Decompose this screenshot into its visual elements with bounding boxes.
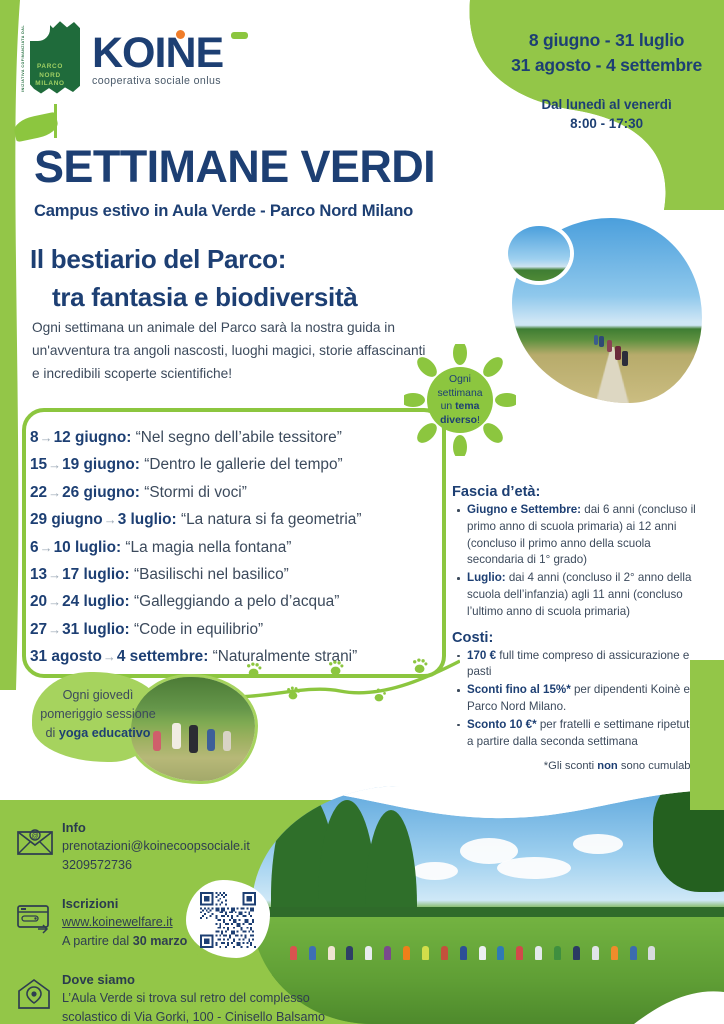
white-notch-bottom-right bbox=[594, 982, 724, 1024]
footnote-bold: non bbox=[597, 760, 618, 772]
week-range-b: 26 giugno: bbox=[62, 484, 140, 501]
age-item-label: Giugno e Settembre: bbox=[467, 503, 581, 516]
sun-line-2: settimana bbox=[420, 386, 500, 400]
page-subtitle: Campus estivo in Aula Verde - Parco Nord… bbox=[34, 201, 413, 221]
poster-root: INIZIATIVA COFINANZIATA DAL PARCO NORD M… bbox=[0, 0, 724, 1024]
arrow-icon: → bbox=[39, 540, 54, 555]
week-item: 27→31 luglio: “Code in equilibrio” bbox=[30, 616, 460, 643]
photo-figure bbox=[615, 346, 621, 360]
week-item: 6→10 luglio: “La magia nella fontana” bbox=[30, 534, 460, 561]
info-title: Info bbox=[62, 818, 434, 837]
seated-child bbox=[592, 946, 599, 960]
svg-text:@: @ bbox=[31, 833, 38, 840]
koine-green-bar-icon bbox=[231, 32, 248, 39]
week-range-a: 20 bbox=[30, 593, 47, 610]
opening-hours: 8:00 - 17:30 bbox=[511, 114, 702, 133]
week-title: “Galleggiando a pelo d’acqua” bbox=[134, 593, 339, 610]
shield-text: PARCO NORD MILANO bbox=[18, 14, 82, 100]
sun-line-1: Ogni bbox=[420, 373, 500, 387]
cost-item-label: Sconti fino al 15%* bbox=[467, 683, 571, 696]
dove-title: Dove siamo bbox=[62, 970, 434, 989]
week-title: “Nel segno dell’abile tessitore” bbox=[136, 429, 342, 446]
logo-row: INIZIATIVA COFINANZIATA DAL PARCO NORD M… bbox=[18, 14, 223, 100]
week-item: 29 giugno→3 luglio: “La natura si fa geo… bbox=[30, 506, 460, 533]
milano-label: MILANO bbox=[35, 80, 64, 89]
week-range-b: 10 luglio: bbox=[54, 539, 122, 556]
cloud bbox=[573, 834, 623, 854]
arrow-icon: → bbox=[47, 485, 62, 500]
footer-dove-block: Dove siamo L’Aula Verde si trova sul ret… bbox=[14, 970, 434, 1024]
week-item: 8→12 giugno: “Nel segno dell’abile tessi… bbox=[30, 424, 460, 451]
intro-paragraph: Ogni settimana un animale del Parco sarà… bbox=[32, 316, 432, 385]
koine-logo: KOINE cooperativa sociale onlus bbox=[92, 27, 223, 87]
week-range-a: 8 bbox=[30, 429, 39, 446]
cost-item: Sconto 10 €* per fratelli e settimane ri… bbox=[452, 717, 700, 751]
arrow-icon: → bbox=[47, 594, 62, 609]
seated-child bbox=[479, 946, 486, 960]
theme-title: Il bestiario del Parco: tra fantasia e b… bbox=[30, 240, 357, 316]
yoga-line-1: Ogni giovedì bbox=[34, 686, 162, 705]
seated-child bbox=[497, 946, 504, 960]
dove-line-2: scolastico di Via Gorki, 100 - Cinisello… bbox=[62, 1008, 434, 1024]
arrow-icon: → bbox=[103, 512, 118, 527]
yoga-figure bbox=[172, 723, 181, 749]
nord-label: NORD bbox=[39, 72, 61, 81]
week-item: 20→24 luglio: “Galleggiando a pelo d’acq… bbox=[30, 588, 460, 615]
seated-child bbox=[630, 946, 637, 960]
cost-item-label: 170 € bbox=[467, 649, 496, 662]
koine-orange-dot-icon bbox=[176, 30, 185, 39]
week-range-b: 12 giugno: bbox=[54, 429, 132, 446]
age-item: Giugno e Settembre: dai 6 anni (concluso… bbox=[452, 502, 700, 569]
arrow-icon: → bbox=[102, 649, 117, 664]
seated-child bbox=[460, 946, 467, 960]
cost-item: 170 € full time compreso di assicurazion… bbox=[452, 648, 700, 682]
footer-info-block: @ Info prenotazioni@koinecoopsociale.it … bbox=[14, 818, 434, 875]
arrow-icon: → bbox=[39, 430, 54, 445]
home-location-pin-icon bbox=[16, 977, 54, 1011]
week-title: “La magia nella fontana” bbox=[125, 539, 291, 556]
week-range-a: 31 agosto bbox=[30, 648, 102, 665]
dates-block: 8 giugno - 31 luglio 31 agosto - 4 sette… bbox=[511, 28, 702, 133]
yoga-figure bbox=[189, 725, 198, 753]
week-range-a: 27 bbox=[30, 621, 47, 638]
info-phone[interactable]: 3209572736 bbox=[62, 856, 434, 875]
week-range-b: 31 luglio: bbox=[62, 621, 130, 638]
parco-nord-milano-logo: INIZIATIVA COFINANZIATA DAL PARCO NORD M… bbox=[18, 14, 82, 100]
right-info-column: Fascia d’età: Giugno e Settembre: dai 6 … bbox=[452, 484, 700, 774]
sun-line-3-plain: un bbox=[441, 401, 455, 412]
age-item-label: Luglio: bbox=[467, 571, 506, 584]
week-title: “La natura si fa geometria” bbox=[181, 511, 362, 528]
week-range-b: 3 luglio: bbox=[118, 511, 177, 528]
info-email[interactable]: prenotazioni@koinecoopsociale.it bbox=[62, 837, 434, 856]
theme-line-1: Il bestiario del Parco: bbox=[30, 244, 286, 274]
theme-line-2: tra fantasia e biodiversità bbox=[30, 278, 357, 316]
seated-child bbox=[441, 946, 448, 960]
envelope-at-icon: @ bbox=[16, 825, 54, 859]
seated-child bbox=[516, 946, 523, 960]
photo-figure bbox=[599, 336, 604, 347]
age-list: Giugno e Settembre: dai 6 anni (concluso… bbox=[452, 502, 700, 621]
week-range-a: 13 bbox=[30, 566, 47, 583]
yoga-figure bbox=[223, 731, 231, 751]
yoga-line-3-bold: yoga educativo bbox=[59, 726, 151, 740]
seated-child bbox=[535, 946, 542, 960]
age-heading: Fascia d’età: bbox=[452, 484, 700, 500]
opening-days: Dal lunedì al venerdì bbox=[511, 95, 702, 114]
yoga-line-3-plain: di bbox=[46, 726, 59, 740]
week-range-a: 15 bbox=[30, 456, 47, 473]
since-date: 30 marzo bbox=[133, 934, 188, 948]
sun-badge-text: Ogni settimana un tema diverso! bbox=[420, 373, 500, 427]
period-2: 31 agosto - 4 settembre bbox=[511, 53, 702, 78]
yoga-text-block: Ogni giovedì pomeriggio sessione di yoga… bbox=[34, 686, 162, 743]
week-title: “Basilischi nel basilico” bbox=[134, 566, 289, 583]
discount-footnote: *Gli sconti non sono cumulabili bbox=[452, 759, 700, 774]
cost-item-text: full time compreso di assicurazione e pa… bbox=[467, 649, 689, 679]
week-range-b: 17 luglio: bbox=[62, 566, 130, 583]
week-range-b: 19 giugno: bbox=[62, 456, 140, 473]
browser-window-icon bbox=[16, 901, 54, 935]
week-range-a: 6 bbox=[30, 539, 39, 556]
footnote-post: sono cumulabili bbox=[618, 760, 698, 772]
period-1: 8 giugno - 31 luglio bbox=[511, 28, 702, 53]
hero-photo-sky-circle bbox=[504, 222, 574, 285]
week-title: “Code in equilibrio” bbox=[134, 621, 263, 638]
page-title: SETTIMANE VERDI bbox=[34, 143, 435, 191]
qr-code-icon[interactable] bbox=[200, 892, 256, 948]
week-item: 22→26 giugno: “Stormi di voci” bbox=[30, 479, 460, 506]
costs-heading: Costi: bbox=[452, 630, 700, 646]
photo-figure bbox=[607, 340, 612, 352]
week-range-a: 22 bbox=[30, 484, 47, 501]
footnote-pre: *Gli sconti bbox=[544, 760, 597, 772]
week-item: 13→17 luglio: “Basilischi nel basilico” bbox=[30, 561, 460, 588]
green-right-strip bbox=[690, 660, 724, 810]
photo-figure bbox=[622, 351, 628, 366]
seated-child bbox=[573, 946, 580, 960]
week-item: 15→19 giugno: “Dentro le gallerie del te… bbox=[30, 451, 460, 478]
seated-child bbox=[648, 946, 655, 960]
weeks-list: 8→12 giugno: “Nel segno dell’abile tessi… bbox=[30, 424, 460, 671]
sun-line-4-plain: ! bbox=[477, 415, 480, 426]
yoga-figure bbox=[207, 729, 215, 751]
parco-label: PARCO bbox=[37, 63, 63, 72]
cost-item: Sconti fino al 15%* per dipendenti Koinè… bbox=[452, 682, 700, 716]
week-title: “Dentro le gallerie del tempo” bbox=[144, 456, 342, 473]
arrow-icon: → bbox=[47, 622, 62, 637]
seated-child bbox=[611, 946, 618, 960]
since-pre: A partire dal bbox=[62, 934, 133, 948]
sky-circle-fill bbox=[508, 226, 570, 281]
photo-figure bbox=[594, 335, 598, 345]
iscrizioni-url[interactable]: www.koinewelfare.it bbox=[62, 915, 173, 929]
age-item: Luglio: dai 4 anni (concluso il 2° anno … bbox=[452, 570, 700, 620]
koine-wordmark: KOINE bbox=[92, 33, 223, 73]
week-range-b: 24 luglio: bbox=[62, 593, 130, 610]
week-range-a: 29 giugno bbox=[30, 511, 103, 528]
arrow-icon: → bbox=[47, 567, 62, 582]
costs-list: 170 € full time compreso di assicurazion… bbox=[452, 648, 700, 751]
dove-line-1: L’Aula Verde si trova sul retro del comp… bbox=[62, 989, 434, 1008]
week-range-b: 4 settembre: bbox=[117, 648, 209, 665]
week-title: “Stormi di voci” bbox=[144, 484, 247, 501]
yoga-line-2: pomeriggio sessione bbox=[34, 705, 162, 724]
sun-line-3-bold: tema bbox=[455, 401, 479, 412]
seated-child bbox=[554, 946, 561, 960]
cost-item-label: Sconto 10 €* bbox=[467, 718, 537, 731]
koine-text: KOINE bbox=[92, 29, 223, 77]
arrow-icon: → bbox=[47, 457, 62, 472]
